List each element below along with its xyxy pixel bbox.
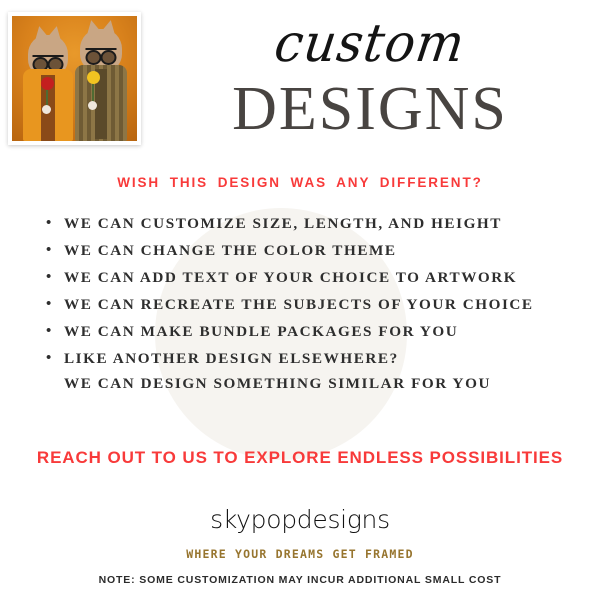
- feature-list: WE CAN CUSTOMIZE SIZE, LENGTH, AND HEIGH…: [46, 216, 586, 403]
- title-script-word: custom: [146, 17, 593, 70]
- list-item: WE CAN RECREATE THE SUBJECTS OF YOUR CHO…: [46, 297, 586, 313]
- call-to-action: REACH OUT TO US TO EXPLORE ENDLESS POSSI…: [0, 448, 600, 468]
- subtitle: WISH THIS DESIGN WAS ANY DIFFERENT?: [0, 175, 600, 190]
- title-serif-word: DESIGNS: [150, 78, 590, 140]
- thumbnail-artwork: [12, 16, 137, 141]
- cat-ear-icon: [98, 18, 119, 38]
- cat-figure-right: [73, 29, 129, 141]
- cat-figure-left: [21, 33, 75, 141]
- list-item: WE CAN CUSTOMIZE SIZE, LENGTH, AND HEIGH…: [46, 216, 586, 232]
- cat-paw-icon: [88, 101, 97, 110]
- list-item: WE CAN ADD TEXT OF YOUR CHOICE TO ARTWOR…: [46, 270, 586, 286]
- list-item: LIKE ANOTHER DESIGN ELSEWHERE?: [46, 351, 586, 367]
- glasses-icon: [33, 55, 64, 66]
- rose-icon: [41, 77, 54, 90]
- brand-tagline: WHERE YOUR DREAMS GET FRAMED: [0, 547, 600, 561]
- listing-graphic: custom DESIGNS WISH THIS DESIGN WAS ANY …: [0, 0, 600, 600]
- product-thumbnail[interactable]: [8, 12, 141, 145]
- cat-paw-icon: [42, 105, 51, 114]
- page-title: custom DESIGNS: [150, 18, 590, 140]
- cat-coat-right: [75, 65, 127, 141]
- cat-ear-icon: [44, 24, 65, 44]
- list-item: WE CAN CHANGE THE COLOR THEME: [46, 243, 586, 259]
- disclaimer-note: NOTE: SOME CUSTOMIZATION MAY INCUR ADDIT…: [0, 574, 600, 586]
- brand-logo: skypopdesigns: [0, 505, 600, 534]
- list-item-continuation: WE CAN DESIGN SOMETHING SIMILAR FOR YOU: [46, 376, 586, 392]
- list-item: WE CAN MAKE BUNDLE PACKAGES FOR YOU: [46, 324, 586, 340]
- rose-icon: [87, 71, 100, 84]
- glasses-icon: [86, 48, 117, 59]
